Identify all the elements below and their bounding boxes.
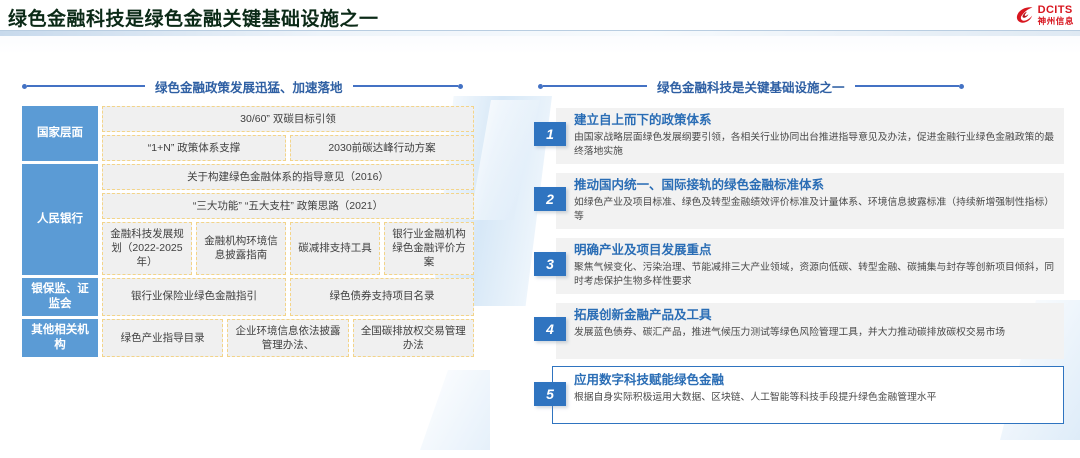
- item-number-badge: 3: [534, 252, 566, 276]
- section-header-left: 绿色金融政策发展迅猛、加速落地: [22, 78, 490, 94]
- decorative-dot-left-2: [458, 84, 463, 89]
- policy-cell[interactable]: 2030前碳达峰行动方案: [290, 135, 474, 161]
- background-diagonal-shape-2: [470, 100, 540, 220]
- brand-logo: DCITS 神州信息: [1015, 5, 1074, 26]
- cell-line: 金融科技发展规划（2022-2025年） 金融机构环境信息披露指南 碳减排支持工…: [102, 222, 474, 275]
- policy-cell[interactable]: 银行业金融机构绿色金融评价方案: [384, 222, 474, 275]
- item-body: 明确产业及项目发展重点 聚焦气候变化、污染治理、节能减排三大产业领域，资源向低碳…: [574, 243, 1056, 289]
- cell-line: 关于构建绿色金融体系的指导意见（2016）: [102, 164, 474, 190]
- key-points-list: 1 建立自上而下的政策体系 由国家战略层面绿色发展纲要引领，各相关行业协同出台推…: [534, 104, 1070, 429]
- section-heading-text-right: 绿色金融科技是关键基础设施之一: [647, 77, 855, 96]
- item-body: 推动国内统一、国际接轨的绿色金融标准体系 如绿色产业及项目标准、绿色及转型金融绩…: [574, 178, 1056, 224]
- item-description: 根据自身实际积极运用大数据、区块链、人工智能等科技手段提升绿色金融管理水平: [574, 391, 1056, 405]
- item-title: 推动国内统一、国际接轨的绿色金融标准体系: [574, 178, 1056, 194]
- policy-cell[interactable]: 金融机构环境信息披露指南: [196, 222, 286, 275]
- item-description: 发展蓝色债券、碳汇产品，推进气候压力测试等绿色风险管理工具，并大力推动碳排放碳权…: [574, 326, 1056, 340]
- policy-cell[interactable]: 全国碳排放权交易管理办法: [353, 319, 474, 357]
- item-description: 聚焦气候变化、污染治理、节能减排三大产业领域，资源向低碳、转型金融、碳捕集与封存…: [574, 261, 1056, 289]
- item-number-badge: 5: [534, 382, 566, 406]
- page-title: 绿色金融科技是绿色金融关键基础设施之一: [8, 4, 379, 31]
- row-label-national: 国家层面: [22, 106, 98, 161]
- item-body: 建立自上而下的政策体系 由国家战略层面绿色发展纲要引领，各相关行业协同出台推进指…: [574, 113, 1056, 159]
- policy-cell[interactable]: 绿色债券支持项目名录: [290, 278, 474, 316]
- item-title: 应用数字科技赋能绿色金融: [574, 373, 1056, 389]
- item-body: 应用数字科技赋能绿色金融 根据自身实际积极运用大数据、区块链、人工智能等科技手段…: [574, 373, 1056, 405]
- decorative-line-right-2: [855, 85, 959, 87]
- list-item-highlighted[interactable]: 5 应用数字科技赋能绿色金融 根据自身实际积极运用大数据、区块链、人工智能等科技…: [534, 364, 1070, 426]
- slide-canvas: 绿色金融科技是绿色金融关键基础设施之一 DCITS 神州信息 绿色金融政策发展迅…: [0, 0, 1080, 458]
- item-title: 拓展创新金融产品及工具: [574, 308, 1056, 324]
- decorative-dot-right-2: [959, 84, 964, 89]
- item-number-badge: 2: [534, 187, 566, 211]
- list-item[interactable]: 4 拓展创新金融产品及工具 发展蓝色债券、碳汇产品，推进气候压力测试等绿色风险管…: [534, 299, 1070, 361]
- item-number-badge: 4: [534, 317, 566, 341]
- cell-line: 30/60” 双碳目标引领: [102, 106, 474, 132]
- section-heading-text-left: 绿色金融政策发展迅猛、加速落地: [145, 77, 353, 96]
- policy-cell[interactable]: 碳减排支持工具: [290, 222, 380, 275]
- list-item[interactable]: 3 明确产业及项目发展重点 聚焦气候变化、污染治理、节能减排三大产业领域，资源向…: [534, 234, 1070, 296]
- cell-line: 绿色产业指导目录 企业环境信息依法披露管理办法、 全国碳排放权交易管理办法: [102, 319, 474, 357]
- section-header-right: 绿色金融科技是关键基础设施之一: [538, 78, 1066, 94]
- cell-line: 银行业保险业绿色金融指引 绿色债券支持项目名录: [102, 278, 474, 316]
- item-title: 建立自上而下的政策体系: [574, 113, 1056, 129]
- decorative-line-right: [543, 85, 647, 87]
- policy-table: 国家层面 30/60” 双碳目标引领 “1+N” 政策体系支撑 2030前碳达峰…: [22, 106, 474, 357]
- table-row: 其他相关机构 绿色产业指导目录 企业环境信息依法披露管理办法、 全国碳排放权交易…: [22, 319, 474, 357]
- policy-cell[interactable]: 银行业保险业绿色金融指引: [102, 278, 286, 316]
- item-description: 由国家战略层面绿色发展纲要引领，各相关行业协同出台推进指导意见及办法，促进金融行…: [574, 131, 1056, 159]
- policy-cell[interactable]: 关于构建绿色金融体系的指导意见（2016）: [102, 164, 474, 190]
- table-row: 人民银行 关于构建绿色金融体系的指导意见（2016） “三大功能” “五大支柱”…: [22, 164, 474, 275]
- policy-cell[interactable]: 30/60” 双碳目标引领: [102, 106, 474, 132]
- item-number-badge: 1: [534, 122, 566, 146]
- logo-text-cn: 神州信息: [1038, 17, 1074, 26]
- item-description: 如绿色产业及项目标准、绿色及转型金融绩效评价标准及计量体系、环境信息披露标准（持…: [574, 196, 1056, 224]
- row-label-pboc: 人民银行: [22, 164, 98, 275]
- dcits-swirl-icon: [1015, 6, 1035, 24]
- decorative-line-left: [27, 85, 145, 87]
- decorative-line-left-2: [353, 85, 458, 87]
- cell-line: “1+N” 政策体系支撑 2030前碳达峰行动方案: [102, 135, 474, 161]
- row-label-cbirc-csrc: 银保监、证监会: [22, 278, 98, 316]
- background-diagonal-shape-4: [420, 370, 490, 450]
- policy-cell[interactable]: 企业环境信息依法披露管理办法、: [227, 319, 348, 357]
- list-item[interactable]: 2 推动国内统一、国际接轨的绿色金融标准体系 如绿色产业及项目标准、绿色及转型金…: [534, 169, 1070, 231]
- table-row: 国家层面 30/60” 双碳目标引领 “1+N” 政策体系支撑 2030前碳达峰…: [22, 106, 474, 161]
- policy-cell[interactable]: 绿色产业指导目录: [102, 319, 223, 357]
- title-divider-glow: [0, 36, 1080, 54]
- list-item[interactable]: 1 建立自上而下的政策体系 由国家战略层面绿色发展纲要引领，各相关行业协同出台推…: [534, 104, 1070, 166]
- policy-cell[interactable]: “三大功能” “五大支柱” 政策思路（2021）: [102, 193, 474, 219]
- item-title: 明确产业及项目发展重点: [574, 243, 1056, 259]
- logo-text-en: DCITS: [1038, 5, 1074, 16]
- cell-line: “三大功能” “五大支柱” 政策思路（2021）: [102, 193, 474, 219]
- policy-cell[interactable]: “1+N” 政策体系支撑: [102, 135, 286, 161]
- table-row: 银保监、证监会 银行业保险业绿色金融指引 绿色债券支持项目名录: [22, 278, 474, 316]
- row-label-other-institutions: 其他相关机构: [22, 319, 98, 357]
- item-body: 拓展创新金融产品及工具 发展蓝色债券、碳汇产品，推进气候压力测试等绿色风险管理工…: [574, 308, 1056, 340]
- policy-cell[interactable]: 金融科技发展规划（2022-2025年）: [102, 222, 192, 275]
